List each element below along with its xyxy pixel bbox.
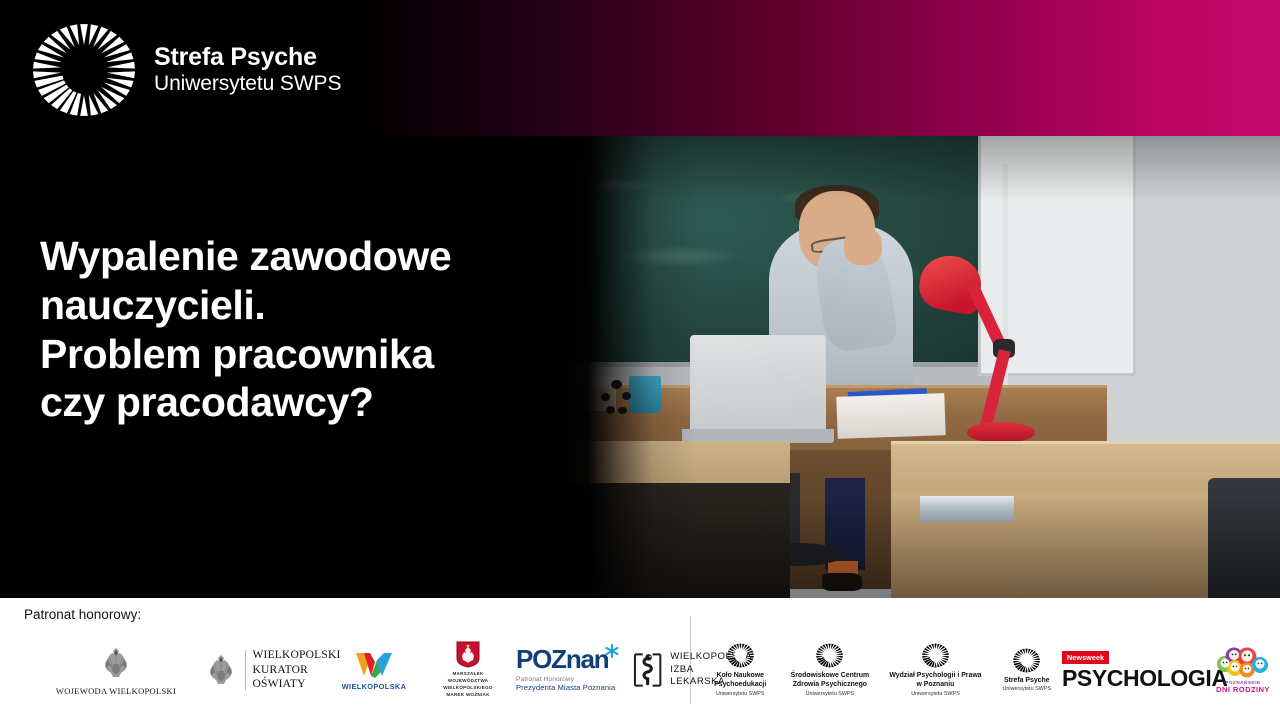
poznan-subline-2: Prezydenta Miasta Poznania bbox=[516, 683, 615, 692]
wielkopolska-crest-icon bbox=[456, 641, 480, 668]
dni-rodziny-line-2: DNI RODZINY bbox=[1216, 685, 1270, 694]
hero-photo bbox=[560, 136, 1280, 598]
patron-caption-wojewoda: WOJEWODA WIELKOPOLSKI bbox=[56, 686, 176, 696]
patron-caption-wielkopolska: WIELKOPOLSKA bbox=[342, 682, 407, 691]
newsweek-badge: Newsweek bbox=[1062, 651, 1109, 664]
swps-sunburst-icon bbox=[727, 643, 754, 668]
title-line-1: Wypalenie zawodowe bbox=[40, 232, 600, 281]
swps-sunburst-icon bbox=[922, 643, 949, 668]
page-title: Wypalenie zawodowe nauczycieli. Problem … bbox=[40, 232, 600, 427]
organizer-line-1: Strefa Psyche bbox=[1004, 677, 1050, 686]
brand-subtitle: Uniwersytetu SWPS bbox=[154, 72, 341, 97]
patron-line-marszalek-4: MAREK WOŹNIAK bbox=[443, 692, 492, 699]
organizer-sub: Uniwersytetu SWPS bbox=[806, 691, 855, 697]
organizer-logo-poznanskie-dni-rodziny[interactable]: POZNAŃSKIE DNI RODZINY bbox=[1214, 646, 1272, 694]
poznan-wordmark: POZnan bbox=[516, 644, 608, 674]
patron-logo-wojewoda-wielkopolski[interactable]: WOJEWODA WIELKOPOLSKI bbox=[30, 645, 202, 696]
organizer-sub: Uniwersytetu SWPS bbox=[1003, 686, 1052, 692]
psychologia-wordmark: PSYCHOLOGIA bbox=[1062, 667, 1228, 690]
organizer-line-1: Środowiskowe Centrum bbox=[791, 672, 870, 681]
molecule-model-icon bbox=[600, 376, 636, 418]
organizer-line-2: Zdrowia Psychicznego bbox=[791, 681, 870, 690]
books-icon bbox=[920, 496, 1014, 521]
brand-logo: Strefa Psyche Uniwersytetu SWPS bbox=[32, 24, 341, 116]
patron-logo-wielkopolski-kurator-oswiaty[interactable]: WIELKOPOLSKI KURATOR OŚWIATY bbox=[202, 648, 342, 691]
logo-separator bbox=[245, 650, 246, 690]
poznan-subline-1: Patronat Honorowy bbox=[516, 676, 574, 683]
patron-logo-marszalek-wojewodztwa[interactable]: MARSZAŁEK WOJEWÓDZTWA WIELKOPOLSKIEGO MA… bbox=[426, 641, 510, 699]
organizer-line-2: Psychoedukacji bbox=[714, 681, 766, 690]
laptop-icon bbox=[690, 335, 827, 437]
organizer-logo-newsweek-psychologia[interactable]: Newsweek PSYCHOLOGIA bbox=[1062, 651, 1214, 690]
patron-line-kurator-2: KURATOR bbox=[253, 663, 341, 677]
organizer-logo-srodowiskowe-centrum-zdrowia-psychicznego[interactable]: Środowiskowe Centrum Zdrowia Psychiczneg… bbox=[780, 643, 879, 697]
papers-icon bbox=[836, 393, 945, 438]
organizer-line-1: Koło Naukowe bbox=[714, 672, 766, 681]
patron-line-kurator-1: WIELKOPOLSKI bbox=[253, 648, 341, 662]
wielkopolska-w-icon bbox=[353, 650, 395, 680]
title-line-3: Problem pracownika bbox=[40, 330, 600, 379]
swps-sunburst-icon bbox=[816, 643, 843, 668]
organizer-logo-wydzial-psychologii-i-prawa[interactable]: Wydział Psychologii i Prawa w Poznaniu U… bbox=[879, 643, 991, 697]
polish-eagle-icon bbox=[99, 645, 133, 681]
organizer-sub: Uniwersytetu SWPS bbox=[911, 691, 960, 697]
family-faces-icon bbox=[1214, 646, 1272, 680]
title-line-4: czy pracodawcy? bbox=[40, 378, 600, 427]
organizer-logo-kolo-naukowe-psychoedukacji[interactable]: Koło Naukowe Psychoedukacji Uniwersytetu… bbox=[700, 643, 780, 697]
patron-logo-group: WOJEWODA WIELKOPOLSKI W bbox=[30, 634, 680, 706]
patronage-label: Patronat honorowy: bbox=[24, 607, 141, 622]
title-line-2: nauczycieli. bbox=[40, 281, 600, 330]
poznan-asterisk-icon bbox=[604, 643, 620, 659]
footer-bar: Patronat honorowy: WOJEWODA WIELKO bbox=[0, 598, 1280, 720]
classroom-scene bbox=[560, 136, 1280, 598]
patron-line-marszalek-3: WIELKOPOLSKIEGO bbox=[443, 685, 492, 692]
asclepius-snake-icon bbox=[632, 651, 663, 689]
swps-sunburst-icon bbox=[1013, 648, 1040, 673]
organizer-line-1: Wydział Psychologii i Prawa bbox=[889, 672, 981, 681]
organizer-line-2: w Poznaniu bbox=[889, 681, 981, 690]
polish-eagle-icon bbox=[204, 652, 238, 688]
swps-sunburst-icon bbox=[32, 24, 136, 116]
brand-title: Strefa Psyche bbox=[154, 43, 341, 73]
organizer-sub: Uniwersytetu SWPS bbox=[716, 691, 765, 697]
patron-line-kurator-3: OŚWIATY bbox=[253, 677, 341, 691]
patron-line-marszalek-2: WOJEWÓDZTWA bbox=[443, 678, 492, 685]
patron-logo-poznan[interactable]: POZnan Patronat Honorowy Prezydenta Mias… bbox=[510, 648, 632, 692]
patron-logo-wielkopolska[interactable]: WIELKOPOLSKA bbox=[342, 650, 406, 691]
slide-canvas: Strefa Psyche Uniwersytetu SWPS bbox=[0, 0, 1280, 720]
organizer-logo-group: Koło Naukowe Psychoedukacji Uniwersytetu… bbox=[700, 634, 1272, 706]
organizer-logo-strefa-psyche[interactable]: Strefa Psyche Uniwersytetu SWPS bbox=[992, 648, 1062, 693]
